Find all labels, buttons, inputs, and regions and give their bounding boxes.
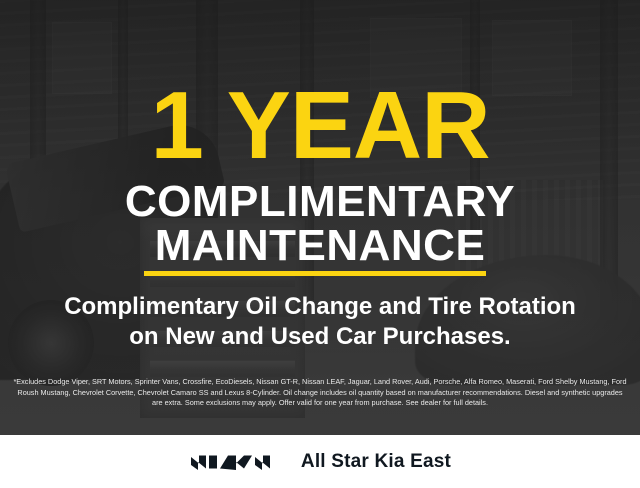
headline-year: 1 YEAR [0,78,640,174]
offer-line-2: on New and Used Car Purchases. [0,322,640,352]
offer-line-1: Complimentary Oil Change and Tire Rotati… [0,292,640,322]
promotional-ad-banner: 1 YEAR COMPLIMENTARY MAINTENANCE Complim… [0,0,640,488]
yellow-divider-bar [144,271,486,276]
dealer-name: All Star Kia East [301,451,451,473]
ad-content: 1 YEAR COMPLIMENTARY MAINTENANCE Complim… [0,0,640,435]
subhead-complimentary: COMPLIMENTARY [0,180,640,224]
subhead-maintenance: MAINTENANCE [0,224,640,268]
disclaimer-text: *Excludes Dodge Viper, SRT Motors, Sprin… [12,377,628,409]
footer-bar: All Star Kia East [0,435,640,488]
kia-logo [189,450,275,474]
